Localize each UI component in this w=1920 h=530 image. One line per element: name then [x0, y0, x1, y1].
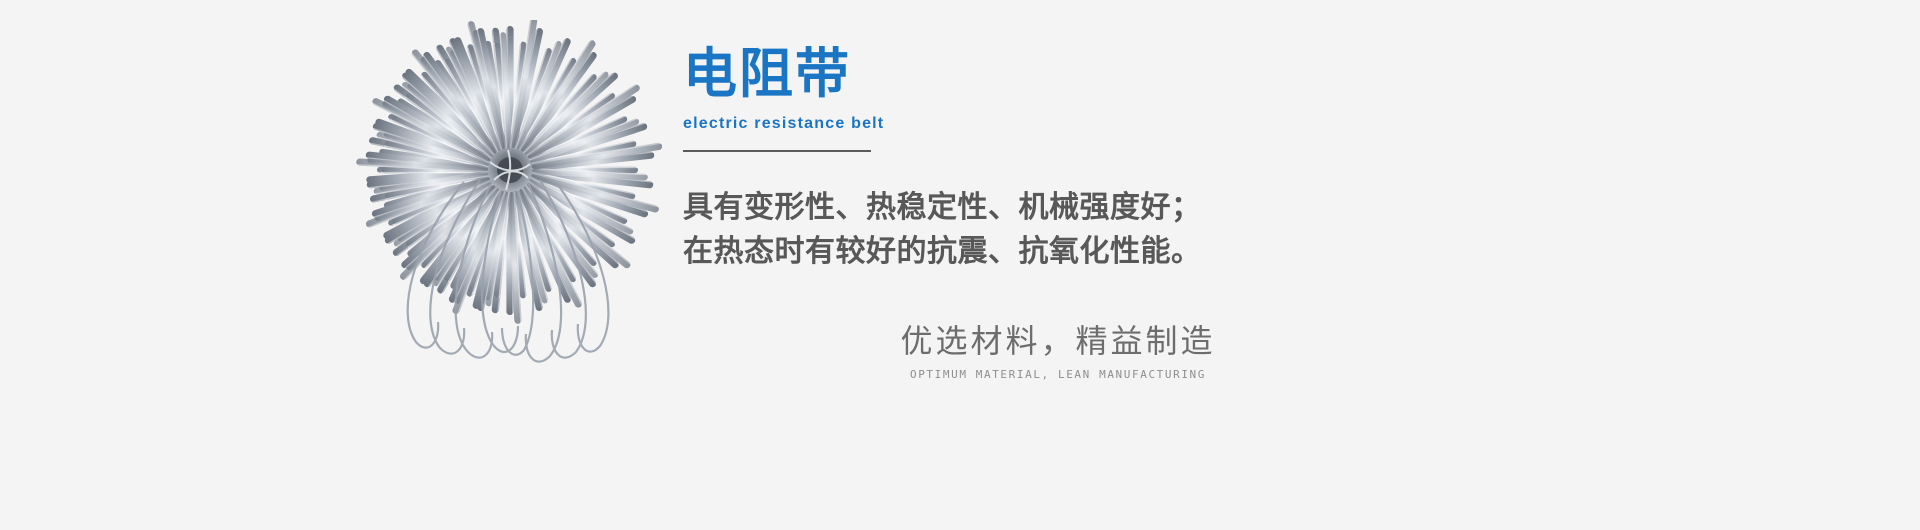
title-divider: [683, 150, 871, 152]
text-column: 电阻带 electric resistance belt 具有变形性、热稳定性、…: [683, 0, 1833, 530]
page-title: 电阻带: [683, 44, 1323, 104]
product-banner: 电阻带 electric resistance belt 具有变形性、热稳定性、…: [0, 0, 1920, 530]
tagline-chinese: 优选材料，精益制造: [778, 320, 1338, 362]
description-line-1: 具有变形性、热稳定性、机械强度好；: [683, 186, 1383, 230]
product-image: [300, 20, 720, 440]
page-subtitle: electric resistance belt: [683, 114, 1323, 134]
description-line-2: 在热态时有较好的抗震、抗氧化性能。: [683, 230, 1383, 274]
resistance-belt-illustration: [300, 20, 720, 440]
description-block: 具有变形性、热稳定性、机械强度好； 在热态时有较好的抗震、抗氧化性能。: [683, 186, 1383, 274]
tagline-block: 优选材料，精益制造 OPTIMUM MATERIAL, LEAN MANUFAC…: [778, 320, 1338, 382]
title-block: 电阻带 electric resistance belt: [683, 44, 1323, 152]
tagline-english: OPTIMUM MATERIAL, LEAN MANUFACTURING: [778, 368, 1338, 382]
